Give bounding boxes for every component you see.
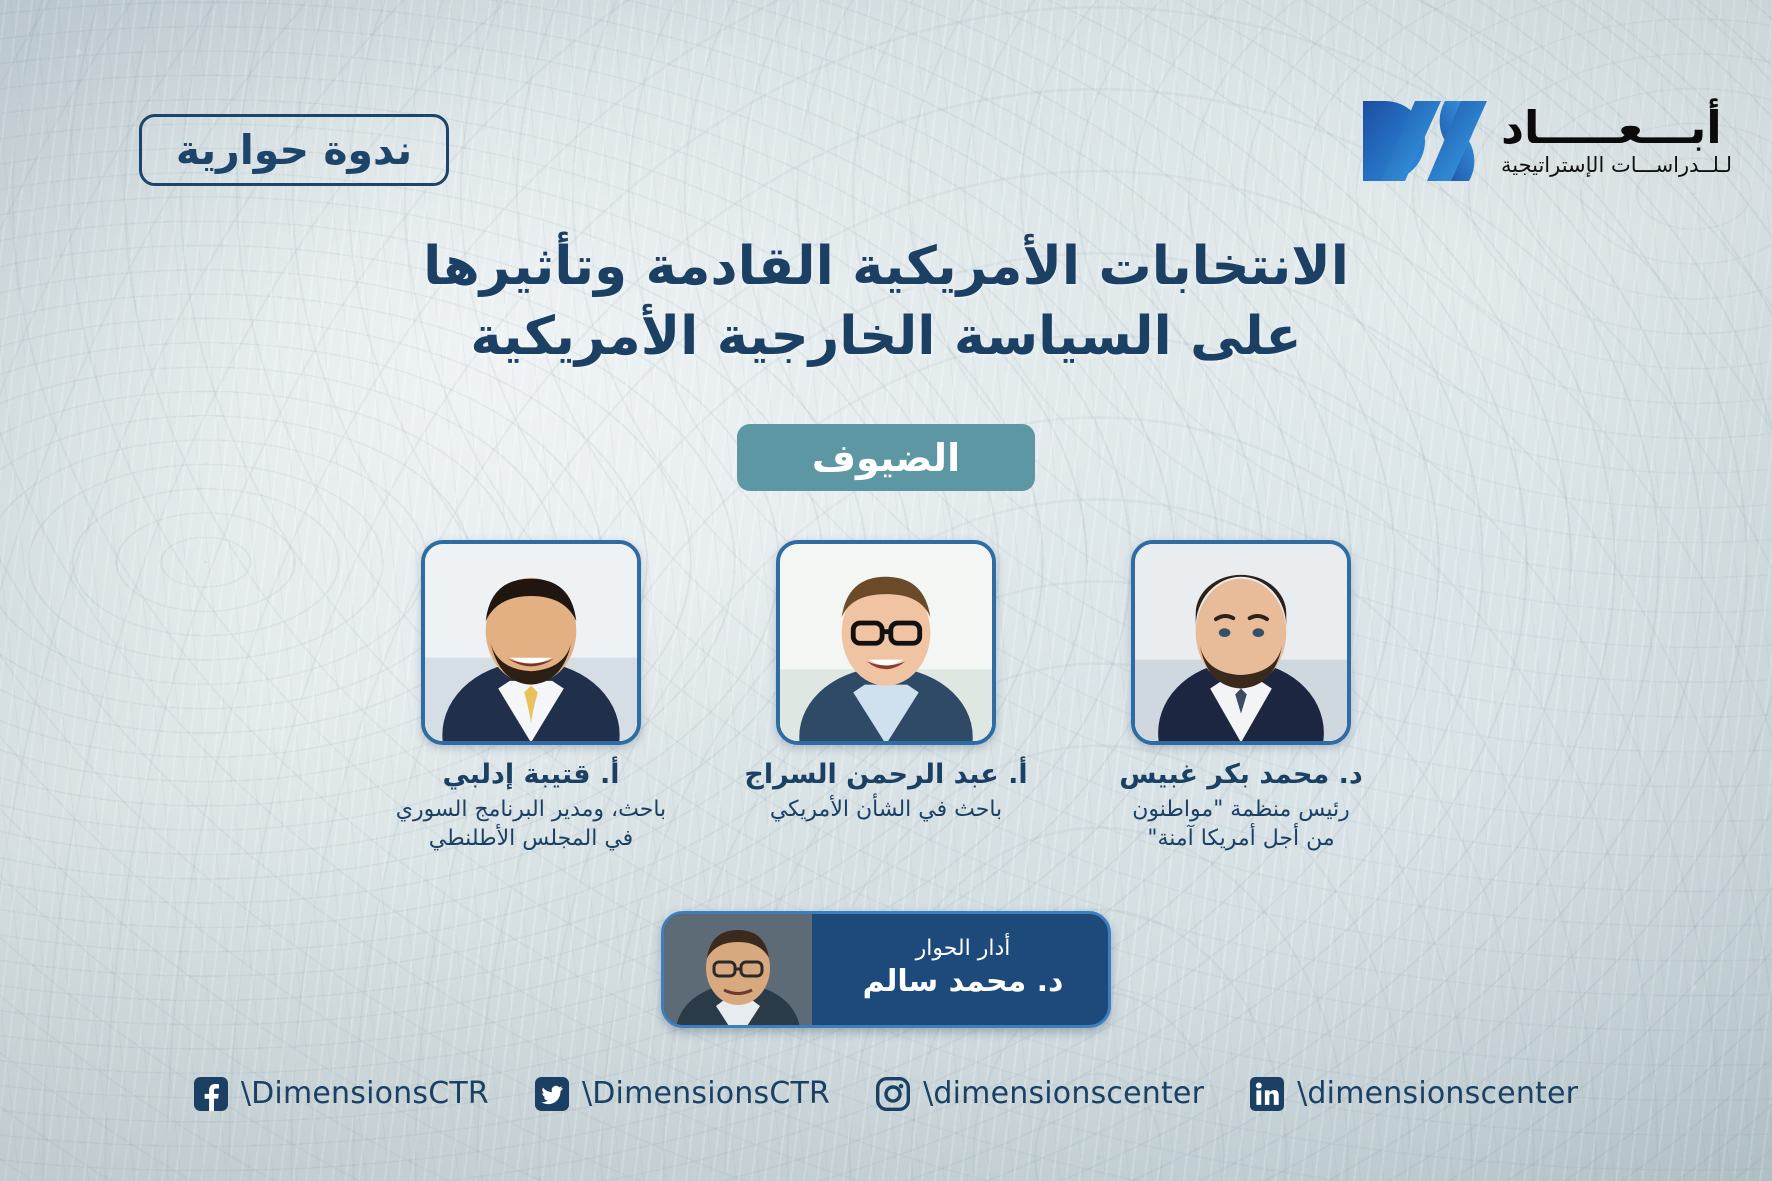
instagram-icon[interactable] [876, 1077, 910, 1111]
speaker-role-line-2: في المجلس الأطلنطي [381, 824, 681, 853]
social-link-linkedin[interactable]: \dimensionscenter [1250, 1076, 1578, 1111]
instagram-handle: \dimensionscenter [923, 1076, 1204, 1111]
moderator-photo-icon [664, 914, 812, 1025]
brand-tagline: لـلــدراســـات الإستراتيجية [1501, 154, 1732, 177]
speaker-card: د. محمد بكر غبيس رئيس منظمة "مواطنون من … [1091, 540, 1391, 853]
guests-section-badge: الضيوف [737, 424, 1035, 491]
speaker-name: د. محمد بكر غبيس [1091, 758, 1391, 792]
social-footer: \DimensionsCTR \DimensionsCTR \dimension… [0, 1076, 1772, 1111]
speaker-photo-1-icon [1135, 544, 1347, 742]
moderator-name: د. محمد سالم [863, 962, 1064, 1003]
brand-name: أبـــعـــــاد [1501, 105, 1732, 150]
title-line-1: الانتخابات الأمريكية القادمة وتأثيرها [423, 236, 1349, 297]
title-line-2: على السياسة الخارجية الأمريكية [470, 306, 1301, 367]
guests-label: الضيوف [812, 436, 960, 480]
speaker-role-line-1: باحث في الشأن الأمريكي [736, 795, 1036, 824]
speaker-role-line-1: رئيس منظمة "مواطنون [1091, 795, 1391, 824]
social-link-instagram[interactable]: \dimensionscenter [876, 1076, 1204, 1111]
speaker-role-line-1: باحث، ومدير البرنامج السوري [381, 795, 681, 824]
seminar-type-badge: ندوة حوارية [139, 114, 449, 186]
social-link-facebook[interactable]: \DimensionsCTR [194, 1076, 489, 1111]
speaker-name: أ. قتيبة إدلبي [381, 758, 681, 792]
moderator-label: أدار الحوار [916, 936, 1011, 962]
speaker-photo-3-icon [425, 544, 637, 742]
avatar [776, 540, 996, 745]
moderator-text: أدار الحوار د. محمد سالم [812, 914, 1108, 1025]
speaker-card: أ. عبد الرحمن السراج باحث في الشأن الأمر… [736, 540, 1036, 853]
facebook-handle: \DimensionsCTR [241, 1076, 489, 1111]
page-title: الانتخابات الأمريكية القادمة وتأثيرها عل… [0, 232, 1772, 372]
brand-logo-text: أبـــعـــــاد لـلــدراســـات الإستراتيجي… [1501, 105, 1732, 177]
brand-logo: أبـــعـــــاد لـلــدراســـات الإستراتيجي… [1359, 95, 1732, 187]
twitter-icon[interactable] [535, 1077, 569, 1111]
avatar [421, 540, 641, 745]
speakers-list: د. محمد بكر غبيس رئيس منظمة "مواطنون من … [0, 540, 1772, 853]
avatar [1131, 540, 1351, 745]
poster-canvas: ندوة حوارية أبـــعـــــاد لـلــدراســـات… [0, 0, 1772, 1181]
twitter-handle: \DimensionsCTR [582, 1076, 830, 1111]
dss-logo-icon [1359, 95, 1491, 187]
facebook-icon[interactable] [194, 1077, 228, 1111]
moderator-bar: أدار الحوار د. محمد سالم [661, 911, 1111, 1028]
speaker-photo-2-icon [780, 544, 992, 742]
seminar-type-label: ندوة حوارية [176, 126, 412, 174]
social-link-twitter[interactable]: \DimensionsCTR [535, 1076, 830, 1111]
speaker-card: أ. قتيبة إدلبي باحث، ومدير البرنامج السو… [381, 540, 681, 853]
moderator-avatar [664, 914, 812, 1025]
speaker-name: أ. عبد الرحمن السراج [736, 758, 1036, 792]
speaker-role-line-2: من أجل أمريكا آمنة" [1091, 824, 1391, 853]
linkedin-handle: \dimensionscenter [1297, 1076, 1578, 1111]
linkedin-icon[interactable] [1250, 1077, 1284, 1111]
